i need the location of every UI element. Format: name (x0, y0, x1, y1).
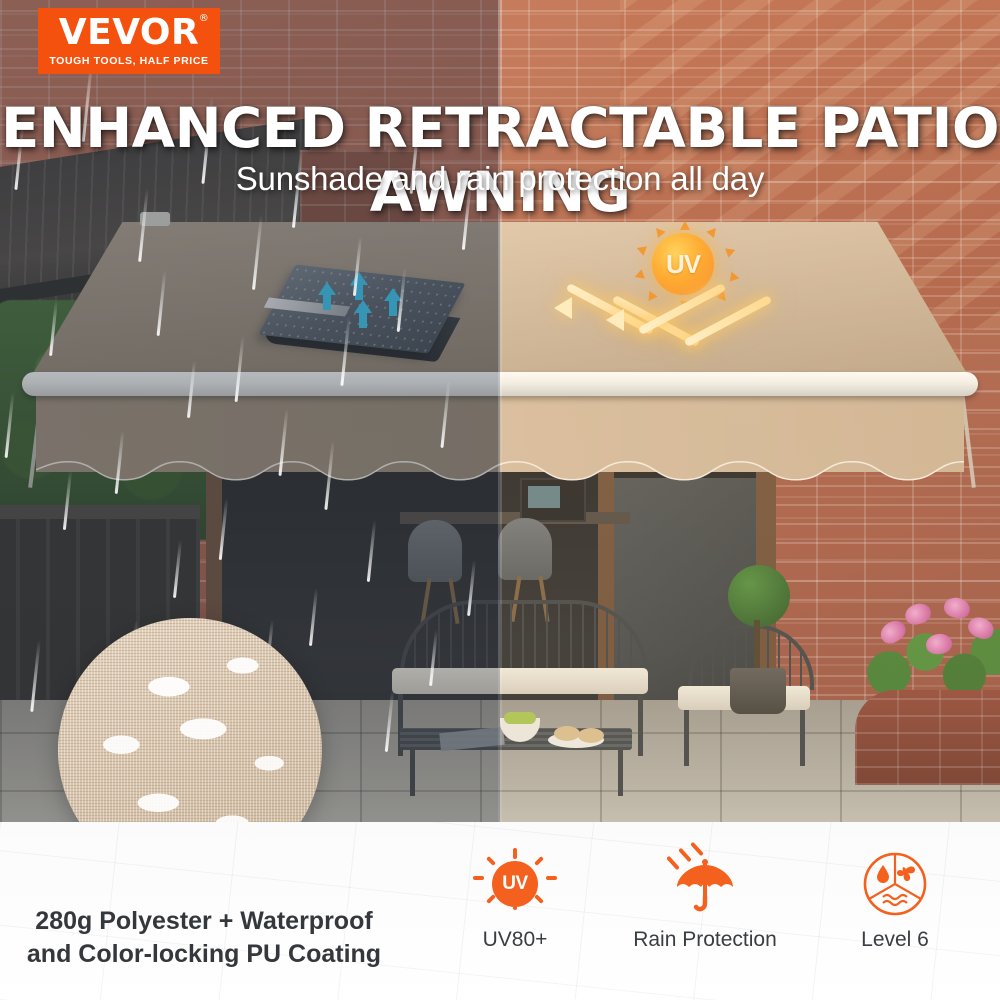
fabric-caption: 280g Polyester + Waterproof and Color-lo… (20, 905, 388, 971)
vevor-logo: VEVOR ® TOUGH TOOLS, HALF PRICE (38, 8, 220, 74)
fabric-caption-line1: 280g Polyester + Waterproof (20, 905, 388, 938)
feature-label-rain: Rain Protection (633, 928, 777, 952)
feature-uv: UV UV80+ (420, 846, 610, 972)
umbrella-icon (610, 846, 800, 922)
feature-label-level: Level 6 (861, 928, 929, 952)
logo-word-text: VEVOR (59, 12, 200, 53)
feature-list: UV UV80+ Rain Pro (420, 846, 990, 972)
wind-level-icon (800, 846, 990, 922)
fabric-caption-line2: and Color-locking PU Coating (20, 938, 388, 971)
umbrella-glyph (671, 853, 739, 915)
page-subheadline: Sunshade and rain protection all day (0, 160, 1000, 198)
registered-mark: ® (199, 14, 210, 24)
logo-wordmark: VEVOR ® (59, 15, 200, 51)
uv-sun-icon: UV (420, 846, 610, 922)
product-marketing-image: UV (0, 0, 1000, 1000)
uv-badge-text: UV (502, 873, 527, 895)
wind-level-glyph (862, 851, 928, 917)
logo-tagline: TOUGH TOOLS, HALF PRICE (49, 55, 208, 67)
uv-badge: UV (492, 861, 538, 907)
feature-label-uv: UV80+ (483, 928, 548, 952)
feature-level: Level 6 (800, 846, 990, 972)
feature-rain: Rain Protection (610, 846, 800, 972)
